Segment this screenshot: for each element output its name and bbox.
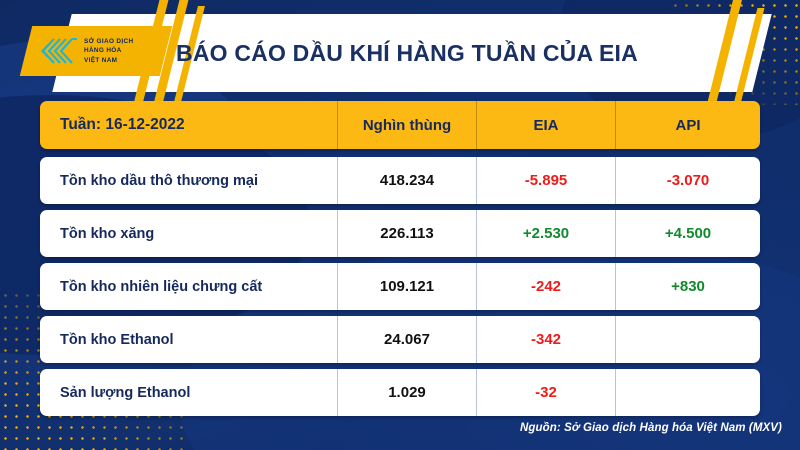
eia-value: +2.530 — [523, 225, 569, 242]
table-row: Sản lượng Ethanol 1.029 -32 — [40, 369, 760, 416]
row-api: +830 — [615, 263, 760, 310]
row-api — [615, 369, 760, 416]
eia-value: -242 — [531, 278, 561, 295]
row-eia: -32 — [476, 369, 615, 416]
column-header-eia: EIA — [476, 101, 615, 149]
table-row: Tồn kho Ethanol 24.067 -342 — [40, 316, 760, 363]
row-value: 24.067 — [337, 316, 476, 363]
source-note: Nguồn: Sở Giao dịch Hàng hóa Việt Nam (M… — [520, 422, 782, 434]
row-value: 109.121 — [337, 263, 476, 310]
table-row: Tồn kho xăng 226.113 +2.530 +4.500 — [40, 210, 760, 257]
row-api: -3.070 — [615, 157, 760, 204]
row-label: Tồn kho nhiên liệu chưng cất — [40, 263, 337, 310]
row-eia: -5.895 — [476, 157, 615, 204]
eia-value: -342 — [531, 331, 561, 348]
column-header-thousand-barrels: Nghìn thùng — [337, 101, 476, 149]
row-eia: -242 — [476, 263, 615, 310]
eia-value: -5.895 — [525, 172, 568, 189]
row-api: +4.500 — [615, 210, 760, 257]
api-value: +4.500 — [665, 225, 711, 242]
table-row: Tồn kho dầu thô thương mại 418.234 -5.89… — [40, 157, 760, 204]
row-label: Tồn kho dầu thô thương mại — [40, 157, 337, 204]
eia-report-table: Tuần: 16-12-2022 Nghìn thùng EIA API Tồn… — [40, 101, 760, 422]
api-value: -3.070 — [667, 172, 710, 189]
api-value: +830 — [671, 278, 705, 295]
row-value: 1.029 — [337, 369, 476, 416]
page-title: BÁO CÁO DẦU KHÍ HÀNG TUẦN CỦA EIA — [62, 14, 752, 92]
row-label: Tồn kho Ethanol — [40, 316, 337, 363]
row-api — [615, 316, 760, 363]
table-header-row: Tuần: 16-12-2022 Nghìn thùng EIA API — [40, 101, 760, 149]
row-eia: -342 — [476, 316, 615, 363]
eia-value: -32 — [535, 384, 557, 401]
row-label: Tồn kho xăng — [40, 210, 337, 257]
row-label: Sản lượng Ethanol — [40, 369, 337, 416]
table-row: Tồn kho nhiên liệu chưng cất 109.121 -24… — [40, 263, 760, 310]
row-value: 418.234 — [337, 157, 476, 204]
infographic-root: SỞ GIAO DỊCH HÀNG HÓA VIỆT NAM BÁO CÁO D… — [0, 0, 800, 450]
column-header-week: Tuần: 16-12-2022 — [40, 101, 337, 149]
row-value: 226.113 — [337, 210, 476, 257]
column-header-api: API — [615, 101, 760, 149]
row-eia: +2.530 — [476, 210, 615, 257]
